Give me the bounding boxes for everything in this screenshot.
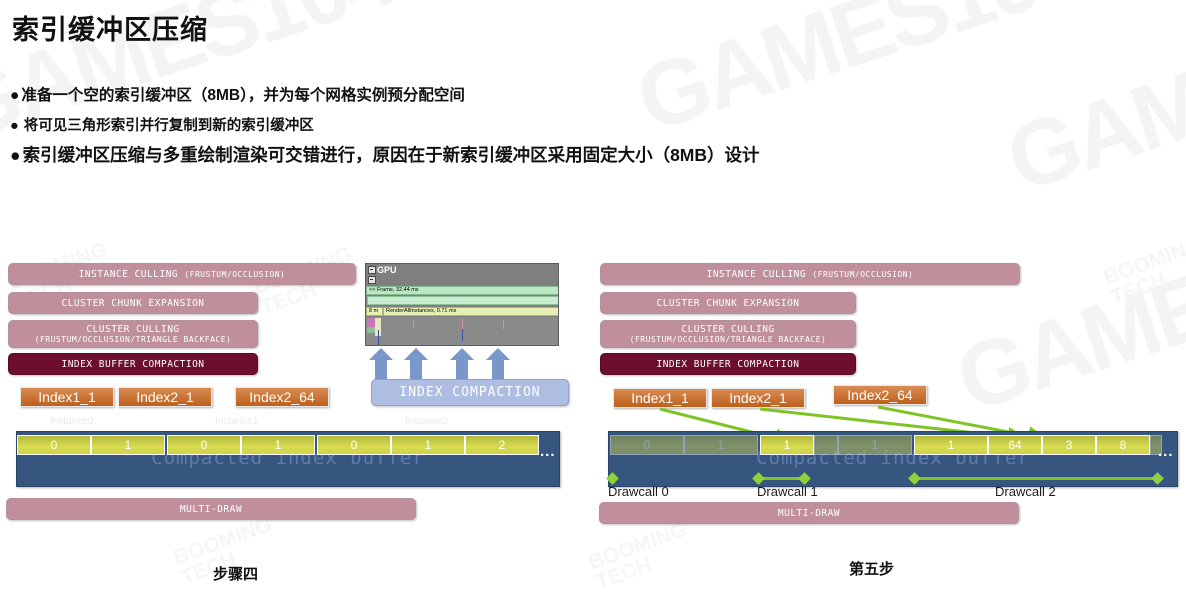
- right-chip-index1-1[interactable]: Index1_1: [613, 388, 707, 408]
- left-buffer-cell: 0: [167, 435, 241, 455]
- drawcall-label-2: Drawcall 2: [995, 484, 1056, 499]
- watermark-brand2-text: TECH: [1108, 268, 1170, 309]
- pipeline-main-text: INSTANCE CULLING: [79, 269, 179, 280]
- gpu-spike: [503, 320, 504, 329]
- bullet-text: 索引缓冲区压缩与多重绘制渲染可交错进行，原因在于新索引缓冲区采用固定大小（8MB…: [23, 144, 760, 166]
- watermark-brand-text: BOOMING: [171, 513, 275, 570]
- pipeline-label: CLUSTER CHUNK EXPANSION: [61, 298, 204, 309]
- right-chip-index2-64[interactable]: Index2_64: [833, 385, 927, 405]
- bullet-item-2: ● 将可见三角形索引并行复制到新的索引缓冲区: [10, 116, 1170, 136]
- right-buffer-cell: 8: [1096, 435, 1150, 455]
- left-buffer-overflow: ...: [540, 443, 556, 460]
- watermark-brand-text: BOOMING: [1101, 233, 1186, 290]
- watermark-games104-mid: GAMES104: [945, 192, 1186, 434]
- right-buffer-cell: [814, 435, 838, 455]
- left-buffer-cell: 1: [391, 435, 465, 455]
- bullet-item-1: ● 准备一个空的索引缓冲区（8MB），并为每个网格实例预分配空间: [10, 86, 1170, 106]
- bullet-list: ● 准备一个空的索引缓冲区（8MB），并为每个网格实例预分配空间 ● 将可见三角…: [10, 86, 1170, 166]
- left-buffer-cell: 2: [465, 435, 539, 455]
- watermark-brand-4: BOOMING TECH: [586, 519, 697, 594]
- gpu-profiler-panel[interactable]: GPU << Frame, 32.44 ms 8 m RenderAllInst…: [365, 263, 559, 346]
- pipeline-label: MULTI-DRAW: [778, 508, 840, 519]
- pipeline-label: MULTI-DRAW: [180, 504, 242, 515]
- right-buffer-cell: 1: [760, 435, 814, 455]
- pipeline-label: CLUSTER CULLING: [86, 324, 179, 335]
- left-instance-label-2: Instance2: [405, 416, 448, 427]
- left-chip-index1-1[interactable]: Index1_1: [20, 387, 114, 407]
- bullet-marker: ●: [10, 86, 19, 106]
- right-buffer-overflow: ...: [1158, 443, 1174, 460]
- page-title: 索引缓冲区压缩: [12, 8, 208, 47]
- pipeline-label: CLUSTER CHUNK EXPANSION: [656, 298, 799, 309]
- gpu-detail-row: RenderAllInstances, 0.71 ms: [383, 307, 559, 316]
- right-pipeline-instance-culling[interactable]: INSTANCE CULLING (FRUSTUM/OCCLUSION): [600, 263, 1020, 285]
- left-instance-label-0: Instance0: [50, 416, 93, 427]
- right-buffer-cell: 1: [914, 435, 988, 455]
- drawcall-label-1: Drawcall 1: [757, 484, 818, 499]
- gpu-panel-title: GPU: [377, 265, 397, 275]
- right-buffer-cell: 1: [684, 435, 758, 455]
- pipeline-sublabel: (FRUSTUM/OCCLUSION/TRIANGLE BACKFACE): [630, 335, 827, 344]
- pipeline-sub-text: (FRUSTUM/OCCLUSION): [812, 270, 913, 279]
- pipeline-sublabel: (FRUSTUM/OCCLUSION/TRIANGLE BACKFACE): [35, 335, 232, 344]
- caption-left: 步骤四: [213, 563, 258, 584]
- gpu-legend-swatch-pink: [367, 318, 375, 327]
- right-pipeline-multi-draw[interactable]: MULTI-DRAW: [599, 502, 1019, 524]
- right-pipeline-cluster-chunk-expansion[interactable]: CLUSTER CHUNK EXPANSION: [600, 292, 856, 314]
- pipeline-main-text: INSTANCE CULLING: [707, 269, 807, 280]
- pipeline-label: INSTANCE CULLING (FRUSTUM/OCCLUSION): [707, 269, 914, 280]
- left-instance-label-1: Instance1: [215, 416, 258, 427]
- gpu-sub-checkbox[interactable]: [368, 276, 376, 284]
- right-buffer-cell: 1: [838, 435, 912, 455]
- watermark-brand2-text: TECH: [593, 553, 655, 594]
- pipeline-sub-text: (FRUSTUM/OCCLUSION): [184, 270, 285, 279]
- pipeline-label: INDEX BUFFER COMPACTION: [656, 359, 799, 370]
- bullet-marker: ●: [10, 144, 21, 166]
- right-pipeline-cluster-culling[interactable]: CLUSTER CULLING (FRUSTUM/OCCLUSION/TRIAN…: [600, 320, 856, 348]
- left-pipeline-multi-draw[interactable]: MULTI-DRAW: [6, 498, 416, 520]
- bullet-marker: ●: [10, 116, 19, 136]
- gpu-frame-row: << Frame, 32.44 ms: [366, 286, 559, 295]
- left-chip-index2-64[interactable]: Index2_64: [235, 387, 329, 407]
- right-chip-index2-1[interactable]: Index2_1: [711, 388, 805, 408]
- pipeline-label: CLUSTER CULLING: [681, 324, 774, 335]
- bullet-item-3: ● 索引缓冲区压缩与多重绘制渲染可交错进行，原因在于新索引缓冲区采用固定大小（8…: [10, 144, 1170, 166]
- left-pipeline-cluster-culling[interactable]: CLUSTER CULLING (FRUSTUM/OCCLUSION/TRIAN…: [8, 320, 258, 348]
- left-buffer-cell: 0: [317, 435, 391, 455]
- right-buffer-cell: 0: [610, 435, 684, 455]
- left-pipeline-index-buffer-compaction[interactable]: INDEX BUFFER COMPACTION: [8, 353, 258, 375]
- watermark-brand-text: BOOMING: [586, 518, 690, 575]
- right-pipeline-index-buffer-compaction[interactable]: INDEX BUFFER COMPACTION: [600, 353, 856, 375]
- right-buffer-cell: 64: [988, 435, 1042, 455]
- watermark-brand-5: BOOMING TECH: [1101, 234, 1186, 309]
- pipeline-label: INSTANCE CULLING (FRUSTUM/OCCLUSION): [79, 269, 286, 280]
- gpu-spike: [378, 330, 379, 346]
- gpu-green-row: [367, 296, 559, 305]
- index-compaction-block[interactable]: INDEX COMPACTION: [371, 379, 569, 406]
- gpu-legend-swatch-green: [367, 327, 375, 333]
- left-buffer-cell: 1: [241, 435, 315, 455]
- gpu-spike: [413, 320, 414, 329]
- drawcall-label-0: Drawcall 0: [608, 484, 669, 499]
- gpu-expand-checkbox[interactable]: [368, 266, 376, 274]
- left-chip-index2-1[interactable]: Index2_1: [118, 387, 212, 407]
- gpu-spike: [462, 319, 463, 329]
- right-buffer-cell: 3: [1042, 435, 1096, 455]
- pipeline-label: INDEX BUFFER COMPACTION: [61, 359, 204, 370]
- left-buffer-cell: 0: [17, 435, 91, 455]
- left-pipeline-instance-culling[interactable]: INSTANCE CULLING (FRUSTUM/OCCLUSION): [8, 263, 356, 285]
- left-pipeline-cluster-chunk-expansion[interactable]: CLUSTER CHUNK EXPANSION: [8, 292, 258, 314]
- bullet-text: 将可见三角形索引并行复制到新的索引缓冲区: [24, 116, 314, 136]
- gpu-detail-row-prefix: 8 m: [366, 307, 383, 316]
- caption-right: 第五步: [849, 558, 894, 579]
- left-buffer-cell: 1: [91, 435, 165, 455]
- drawcall-2-range: [913, 477, 1158, 480]
- bullet-text: 准备一个空的索引缓冲区（8MB），并为每个网格实例预分配空间: [21, 86, 464, 106]
- gpu-spike: [462, 329, 463, 341]
